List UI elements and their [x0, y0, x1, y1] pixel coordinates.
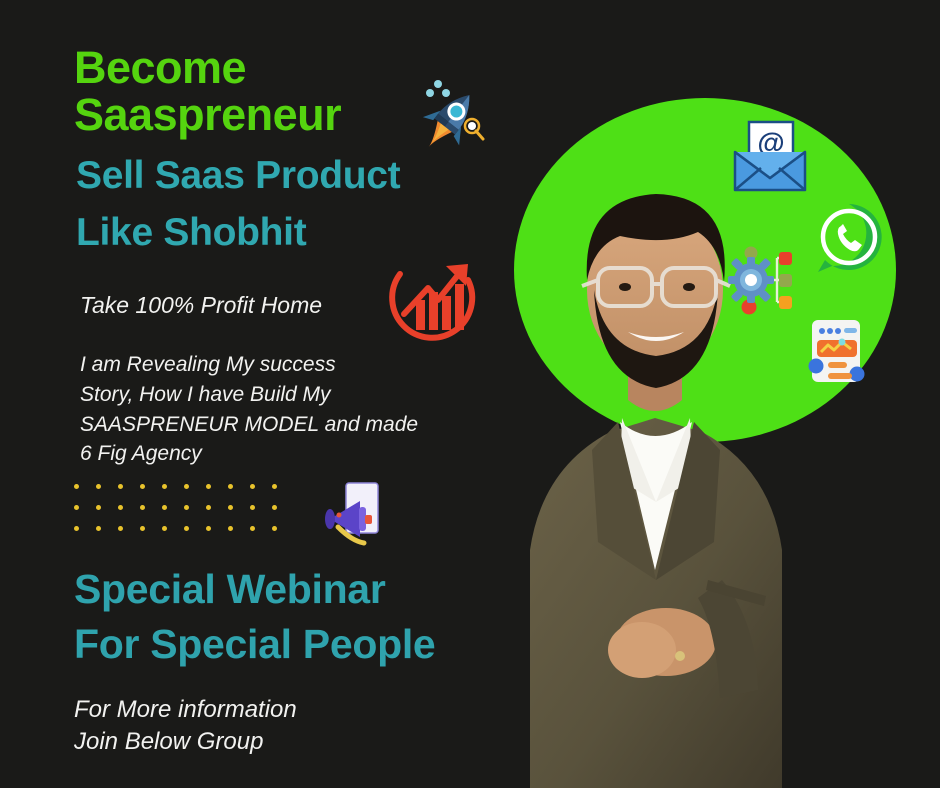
dot [184, 526, 189, 531]
megaphone-icon [322, 479, 384, 547]
headline-line-1: Become [74, 42, 246, 93]
growth-chart-icon [388, 252, 480, 344]
dot [118, 484, 123, 489]
footer-copy: For More information Join Below Group [74, 694, 297, 759]
dashboard-card-icon [806, 318, 866, 394]
webinar-headline: Special Webinar For Special People [74, 562, 514, 671]
tagline: Take 100% Profit Home [80, 292, 322, 319]
subheadline: Sell Saas Product Like Shobhit [76, 148, 516, 261]
dot [118, 526, 123, 531]
dot [184, 484, 189, 489]
footer-copy-line-1: For More information [74, 694, 297, 726]
body-copy-line-2: Story, How I have Build My [80, 380, 465, 410]
body-copy: I am Revealing My success Story, How I h… [80, 350, 465, 469]
dot [96, 526, 101, 531]
dot [140, 526, 145, 531]
automation-gear-icon [727, 243, 801, 317]
dot [228, 505, 233, 510]
dot [96, 505, 101, 510]
dot [206, 484, 211, 489]
dot [140, 505, 145, 510]
dot [250, 526, 255, 531]
dot [74, 484, 79, 489]
footer-copy-line-2: Join Below Group [74, 726, 297, 758]
dot [74, 505, 79, 510]
webinar-headline-line-1: Special Webinar [74, 562, 514, 617]
dot [140, 484, 145, 489]
dot [272, 526, 277, 531]
dot [206, 526, 211, 531]
dot [272, 505, 277, 510]
decorative-dot-grid [74, 484, 294, 547]
body-copy-line-3: SAASPRENEUR MODEL and made [80, 410, 465, 440]
dot [74, 526, 79, 531]
headline-line-2: Saaspreneur [74, 91, 514, 138]
dot [228, 484, 233, 489]
body-copy-line-4: 6 Fig Agency [80, 439, 465, 469]
dot [228, 526, 233, 531]
webinar-headline-line-2: For Special People [74, 617, 514, 672]
page-title: Become Saaspreneur [74, 44, 514, 139]
dot [206, 505, 211, 510]
subheadline-line-1: Sell Saas Product [76, 148, 516, 205]
dot [184, 505, 189, 510]
dot [250, 505, 255, 510]
whatsapp-icon [812, 200, 886, 276]
subheadline-line-2: Like Shobhit [76, 205, 516, 262]
dot [96, 484, 101, 489]
dot [162, 505, 167, 510]
email-at-icon: @ [731, 118, 809, 194]
dot [162, 526, 167, 531]
body-copy-line-1: I am Revealing My success [80, 350, 465, 380]
dot [118, 505, 123, 510]
dot [250, 484, 255, 489]
promo-poster: @ [0, 0, 940, 788]
dot [162, 484, 167, 489]
dot [272, 484, 277, 489]
